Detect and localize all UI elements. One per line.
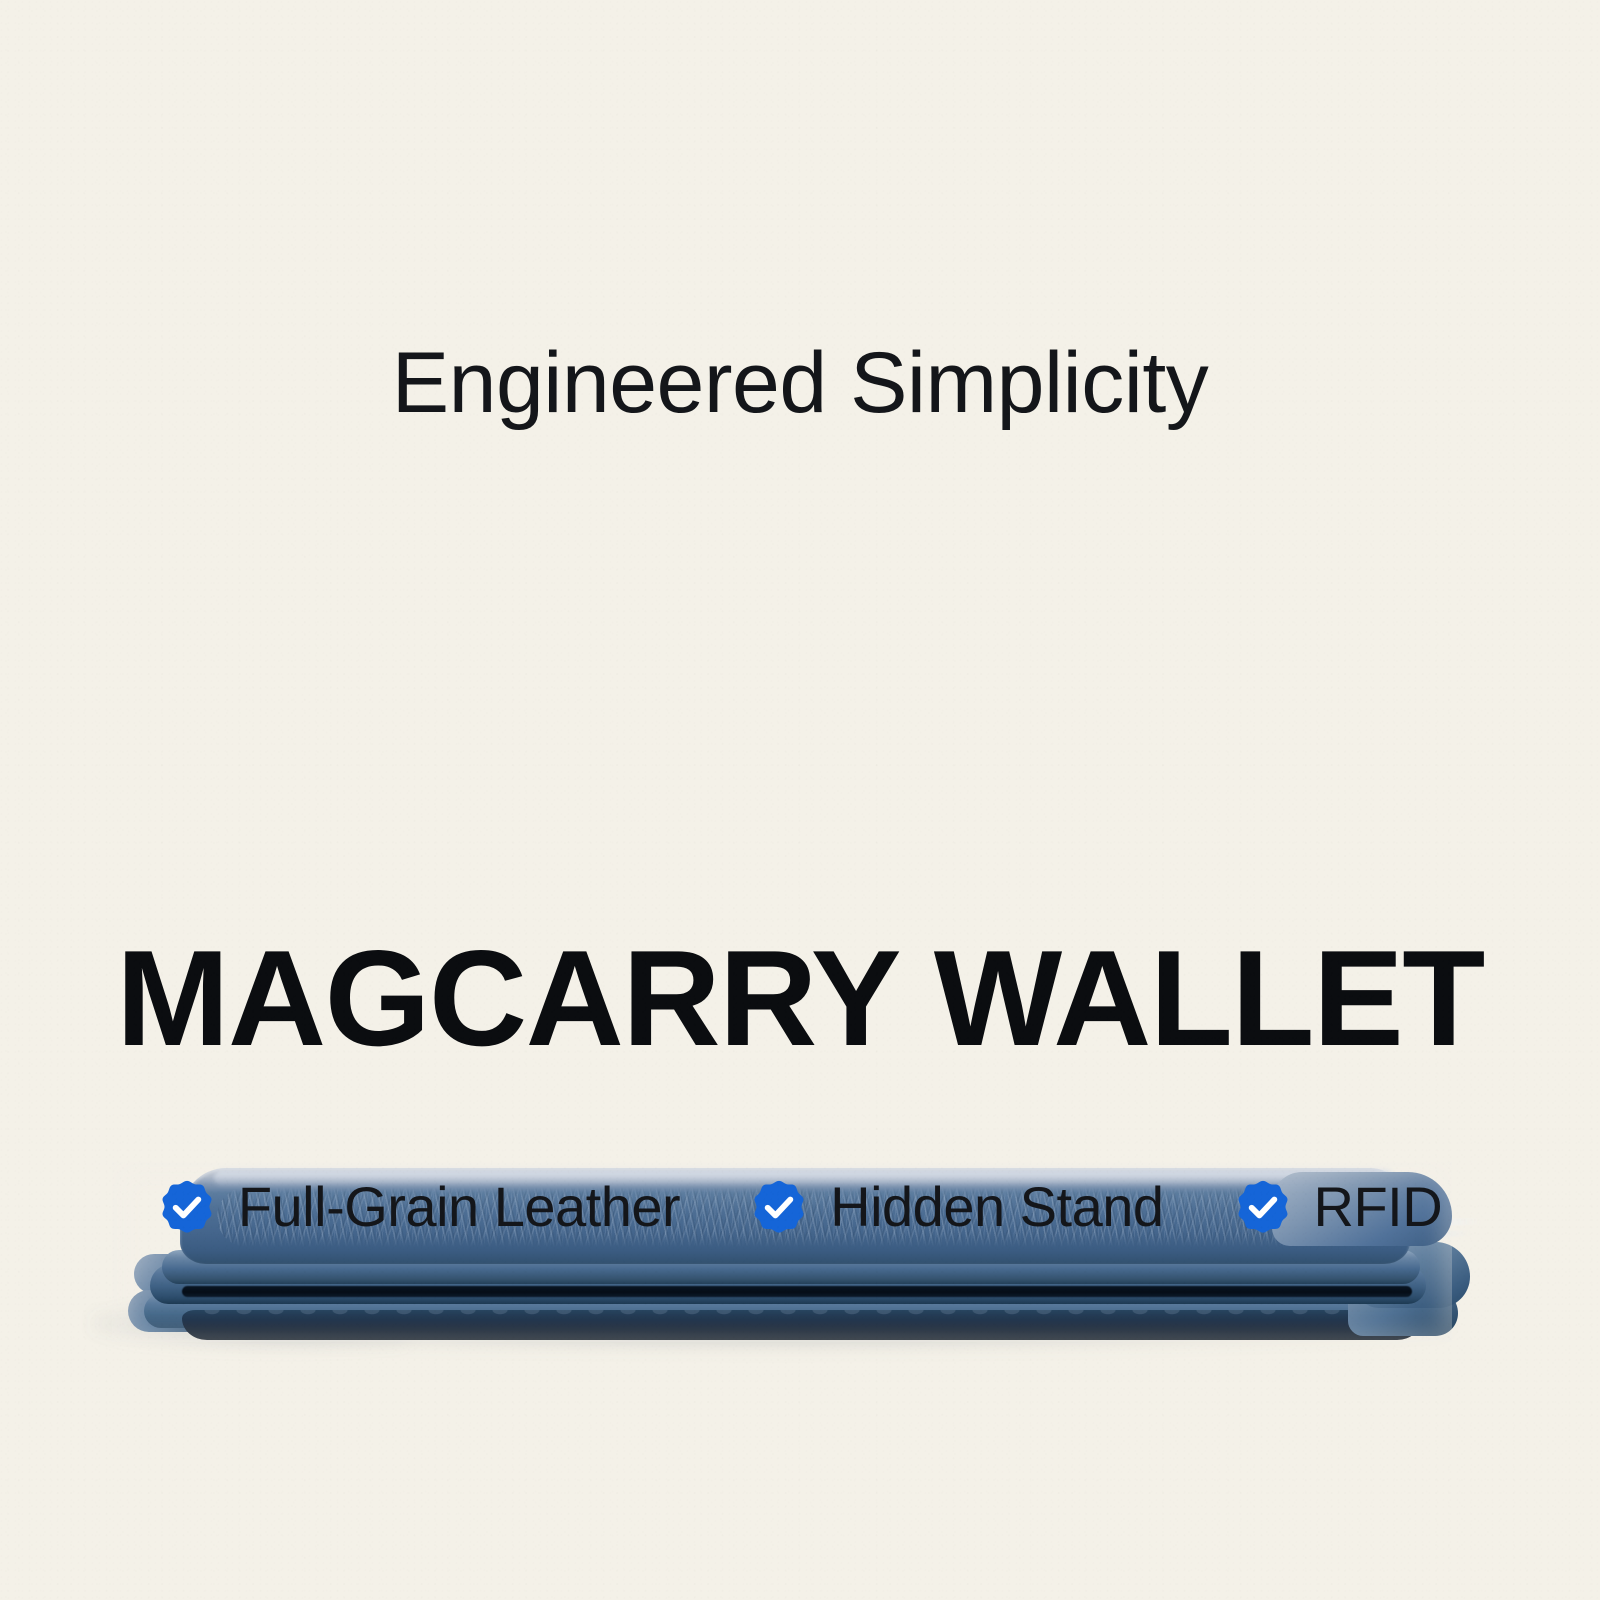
feature-label: Hidden Stand [830, 1179, 1163, 1235]
verified-check-badge-icon [158, 1178, 216, 1236]
product-poster: Engineered Simplicity MAGCARRY WALLET [0, 0, 1600, 1600]
feature-item-rfid: RFID [1234, 1178, 1443, 1236]
headline: Engineered Simplicity [0, 340, 1600, 426]
verified-check-badge-icon [750, 1178, 808, 1236]
wallet-base-edge [182, 1310, 1422, 1340]
feature-item-hidden-stand: Hidden Stand [750, 1178, 1163, 1236]
verified-check-badge-icon [1234, 1178, 1292, 1236]
feature-list: Full-Grain Leather Hidden Stand RFID [0, 1178, 1600, 1236]
product-image [0, 560, 1600, 850]
feature-label: RFID [1314, 1179, 1443, 1235]
feature-label: Full-Grain Leather [238, 1179, 680, 1235]
product-title: MAGCARRY WALLET [0, 930, 1600, 1066]
feature-item-full-grain-leather: Full-Grain Leather [158, 1178, 680, 1236]
wallet-seam-shadow [182, 1286, 1412, 1297]
